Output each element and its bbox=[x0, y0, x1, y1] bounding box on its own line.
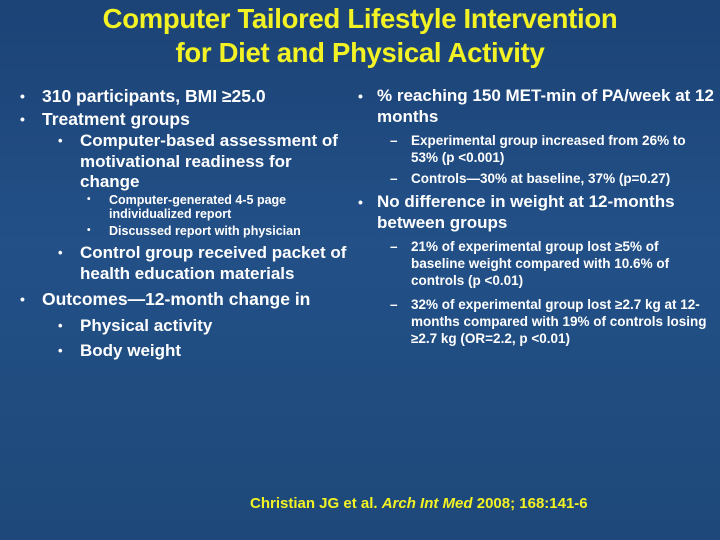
list-item: – Experimental group increased from 26% … bbox=[350, 132, 716, 166]
list-item: • Computer-generated 4-5 page individual… bbox=[8, 193, 353, 222]
list-item: • No difference in weight at 12-months b… bbox=[350, 192, 716, 233]
bullet-dot-icon: • bbox=[58, 316, 63, 337]
list-item-text: Outcomes—12-month change in bbox=[42, 289, 353, 311]
bullet-dot-icon: • bbox=[358, 86, 363, 107]
list-item-text: Discussed report with physician bbox=[109, 224, 353, 239]
left-content-column: • 310 participants, BMI ≥25.0 • Treatmen… bbox=[8, 86, 353, 362]
bullet-dot-icon: • bbox=[358, 192, 363, 213]
list-item-text: Controls—30% at baseline, 37% (p=0.27) bbox=[411, 170, 716, 187]
slide-title-line-1: Computer Tailored Lifestyle Intervention bbox=[14, 2, 706, 36]
bullet-dash-icon: – bbox=[390, 296, 398, 313]
bullet-dash-icon: – bbox=[390, 170, 398, 187]
bullet-dot-icon: • bbox=[20, 109, 25, 131]
list-item-text: Treatment groups bbox=[42, 109, 353, 131]
list-item: – 21% of experimental group lost ≥5% of … bbox=[350, 238, 716, 289]
list-item-text: 310 participants, BMI ≥25.0 bbox=[42, 86, 353, 108]
citation-authors: Christian JG et al. bbox=[250, 495, 382, 512]
list-item: – Controls—30% at baseline, 37% (p=0.27) bbox=[350, 170, 716, 187]
bullet-dash-icon: – bbox=[390, 132, 398, 149]
bullet-dot-icon: • bbox=[58, 341, 63, 362]
bullet-dot-icon: • bbox=[20, 289, 25, 311]
bullet-dot-icon: • bbox=[20, 86, 25, 108]
bullet-dash-icon: – bbox=[390, 238, 398, 255]
list-item: • Discussed report with physician bbox=[8, 224, 353, 239]
bullet-dot-icon: • bbox=[87, 224, 91, 239]
list-item-text: Experimental group increased from 26% to… bbox=[411, 132, 716, 166]
list-item: • Body weight bbox=[8, 341, 353, 362]
list-item: • Computer-based assessment of motivatio… bbox=[8, 131, 353, 193]
list-item-text: % reaching 150 MET-min of PA/week at 12 … bbox=[377, 86, 716, 127]
list-item-text: 32% of experimental group lost ≥2.7 kg a… bbox=[411, 296, 716, 347]
slide-canvas: Computer Tailored Lifestyle Intervention… bbox=[0, 0, 720, 540]
bullet-dot-icon: • bbox=[87, 193, 91, 208]
list-item: – 32% of experimental group lost ≥2.7 kg… bbox=[350, 296, 716, 347]
citation-details: 2008; 168:141-6 bbox=[473, 495, 588, 512]
list-item-text: Computer-based assessment of motivationa… bbox=[80, 131, 353, 193]
list-item: • Outcomes—12-month change in bbox=[8, 289, 353, 311]
list-item-text: Body weight bbox=[80, 341, 353, 362]
list-item: • Physical activity bbox=[8, 316, 353, 337]
citation-journal: Arch Int Med bbox=[382, 495, 473, 512]
list-item-text: 21% of experimental group lost ≥5% of ba… bbox=[411, 238, 716, 289]
list-item-text: Physical activity bbox=[80, 316, 353, 337]
list-item-text: No difference in weight at 12-months bet… bbox=[377, 192, 716, 233]
list-item: • % reaching 150 MET-min of PA/week at 1… bbox=[350, 86, 716, 127]
list-item-text: Computer-generated 4-5 page individualiz… bbox=[109, 193, 353, 222]
list-item-text: Control group received packet of health … bbox=[80, 243, 353, 284]
list-item: • Control group received packet of healt… bbox=[8, 243, 353, 284]
citation: Christian JG et al. Arch Int Med 2008; 1… bbox=[250, 494, 710, 513]
slide-title-line-2: for Diet and Physical Activity bbox=[14, 36, 706, 70]
right-content-column: • % reaching 150 MET-min of PA/week at 1… bbox=[350, 86, 716, 351]
list-item: • Treatment groups bbox=[8, 109, 353, 131]
slide-title: Computer Tailored Lifestyle Intervention… bbox=[14, 2, 706, 70]
bullet-dot-icon: • bbox=[58, 131, 63, 152]
bullet-dot-icon: • bbox=[58, 243, 63, 264]
list-item: • 310 participants, BMI ≥25.0 bbox=[8, 86, 353, 108]
